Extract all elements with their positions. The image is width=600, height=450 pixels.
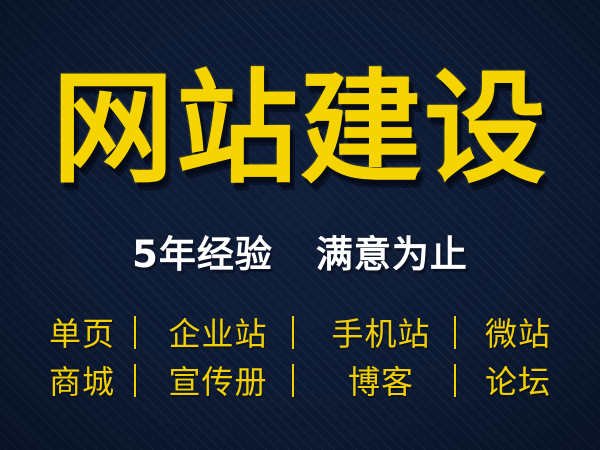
service-item-danye[interactable]: 单页 — [30, 309, 134, 355]
service-separator-icon — [454, 316, 456, 349]
service-list: 单页 企业站 手机站 微站 商城 宣传册 博客 论坛 — [0, 308, 600, 404]
service-separator-icon — [134, 316, 136, 349]
service-separator-icon — [454, 364, 456, 397]
service-item-xuanchuance[interactable]: 宣传册 — [144, 357, 292, 403]
service-item-shoujizhan[interactable]: 手机站 — [308, 309, 454, 355]
service-item-luntan[interactable]: 论坛 — [466, 357, 570, 403]
service-row: 单页 企业站 手机站 微站 — [0, 308, 600, 356]
headline-text: 网站建设 — [52, 68, 548, 190]
subtitle-left-text: 5年经验 — [132, 236, 273, 273]
subtitle-right-text: 满意为止 — [316, 236, 468, 273]
service-item-boke[interactable]: 博客 — [308, 357, 454, 403]
service-item-weizhan[interactable]: 微站 — [466, 309, 570, 355]
service-item-shangcheng[interactable]: 商城 — [30, 357, 134, 403]
promo-poster: 网站建设 5年经验 满意为止 单页 企业站 手机站 微站 商城 宣传册 博客 — [0, 0, 600, 450]
service-separator-icon — [292, 316, 294, 349]
subtitle: 5年经验 满意为止 — [0, 236, 600, 273]
page-title: 网站建设 — [0, 68, 600, 190]
service-row: 商城 宣传册 博客 论坛 — [0, 356, 600, 404]
service-item-qiyezhan[interactable]: 企业站 — [144, 309, 292, 355]
service-separator-icon — [292, 364, 294, 397]
service-separator-icon — [134, 364, 136, 397]
